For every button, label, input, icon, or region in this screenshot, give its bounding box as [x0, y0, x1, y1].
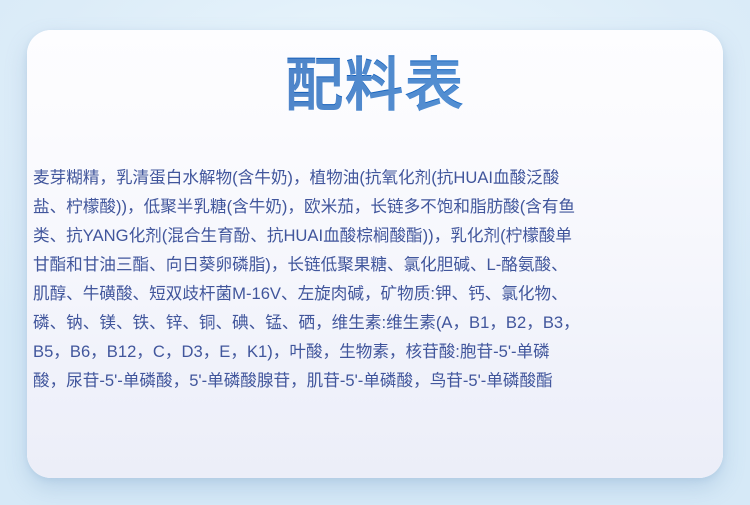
ingredients-line: B5，B6，B12，C，D3，E，K1)，叶酸，生物素，核苷酸:胞苷-5'-单磷	[33, 337, 717, 366]
ingredients-card: 配料表 麦芽糊精，乳清蛋白水解物(含牛奶)，植物油(抗氧化剂(抗HUAI血酸泛酸…	[27, 30, 723, 478]
page-root: 配料表 麦芽糊精，乳清蛋白水解物(含牛奶)，植物油(抗氧化剂(抗HUAI血酸泛酸…	[0, 0, 750, 505]
ingredients-line: 肌醇、牛磺酸、短双歧杆菌M-16V、左旋肉碱，矿物质:钾、钙、氯化物、	[33, 279, 717, 308]
ingredients-line: 甘酯和甘油三酯、向日葵卵磷脂)，长链低聚果糖、氯化胆碱、L-酪氨酸、	[33, 250, 717, 279]
ingredients-line: 盐、柠檬酸))，低聚半乳糖(含牛奶)，欧米茄，长链多不饱和脂肪酸(含有鱼	[33, 192, 717, 221]
page-title: 配料表	[27, 54, 723, 118]
ingredients-line: 酸，尿苷-5'-单磷酸，5'-单磷酸腺苷，肌苷-5'-单磷酸，鸟苷-5'-单磷酸…	[33, 366, 717, 395]
ingredients-line: 类、抗YANG化剂(混合生育酚、抗HUAI血酸棕榈酸酯))，乳化剂(柠檬酸单	[33, 221, 717, 250]
ingredients-line: 磷、钠、镁、铁、锌、铜、碘、锰、硒，维生素:维生素(A，B1，B2，B3，	[33, 308, 717, 337]
ingredients-text-block: 麦芽糊精，乳清蛋白水解物(含牛奶)，植物油(抗氧化剂(抗HUAI血酸泛酸 盐、柠…	[33, 163, 717, 395]
ingredients-line: 麦芽糊精，乳清蛋白水解物(含牛奶)，植物油(抗氧化剂(抗HUAI血酸泛酸	[33, 163, 717, 192]
